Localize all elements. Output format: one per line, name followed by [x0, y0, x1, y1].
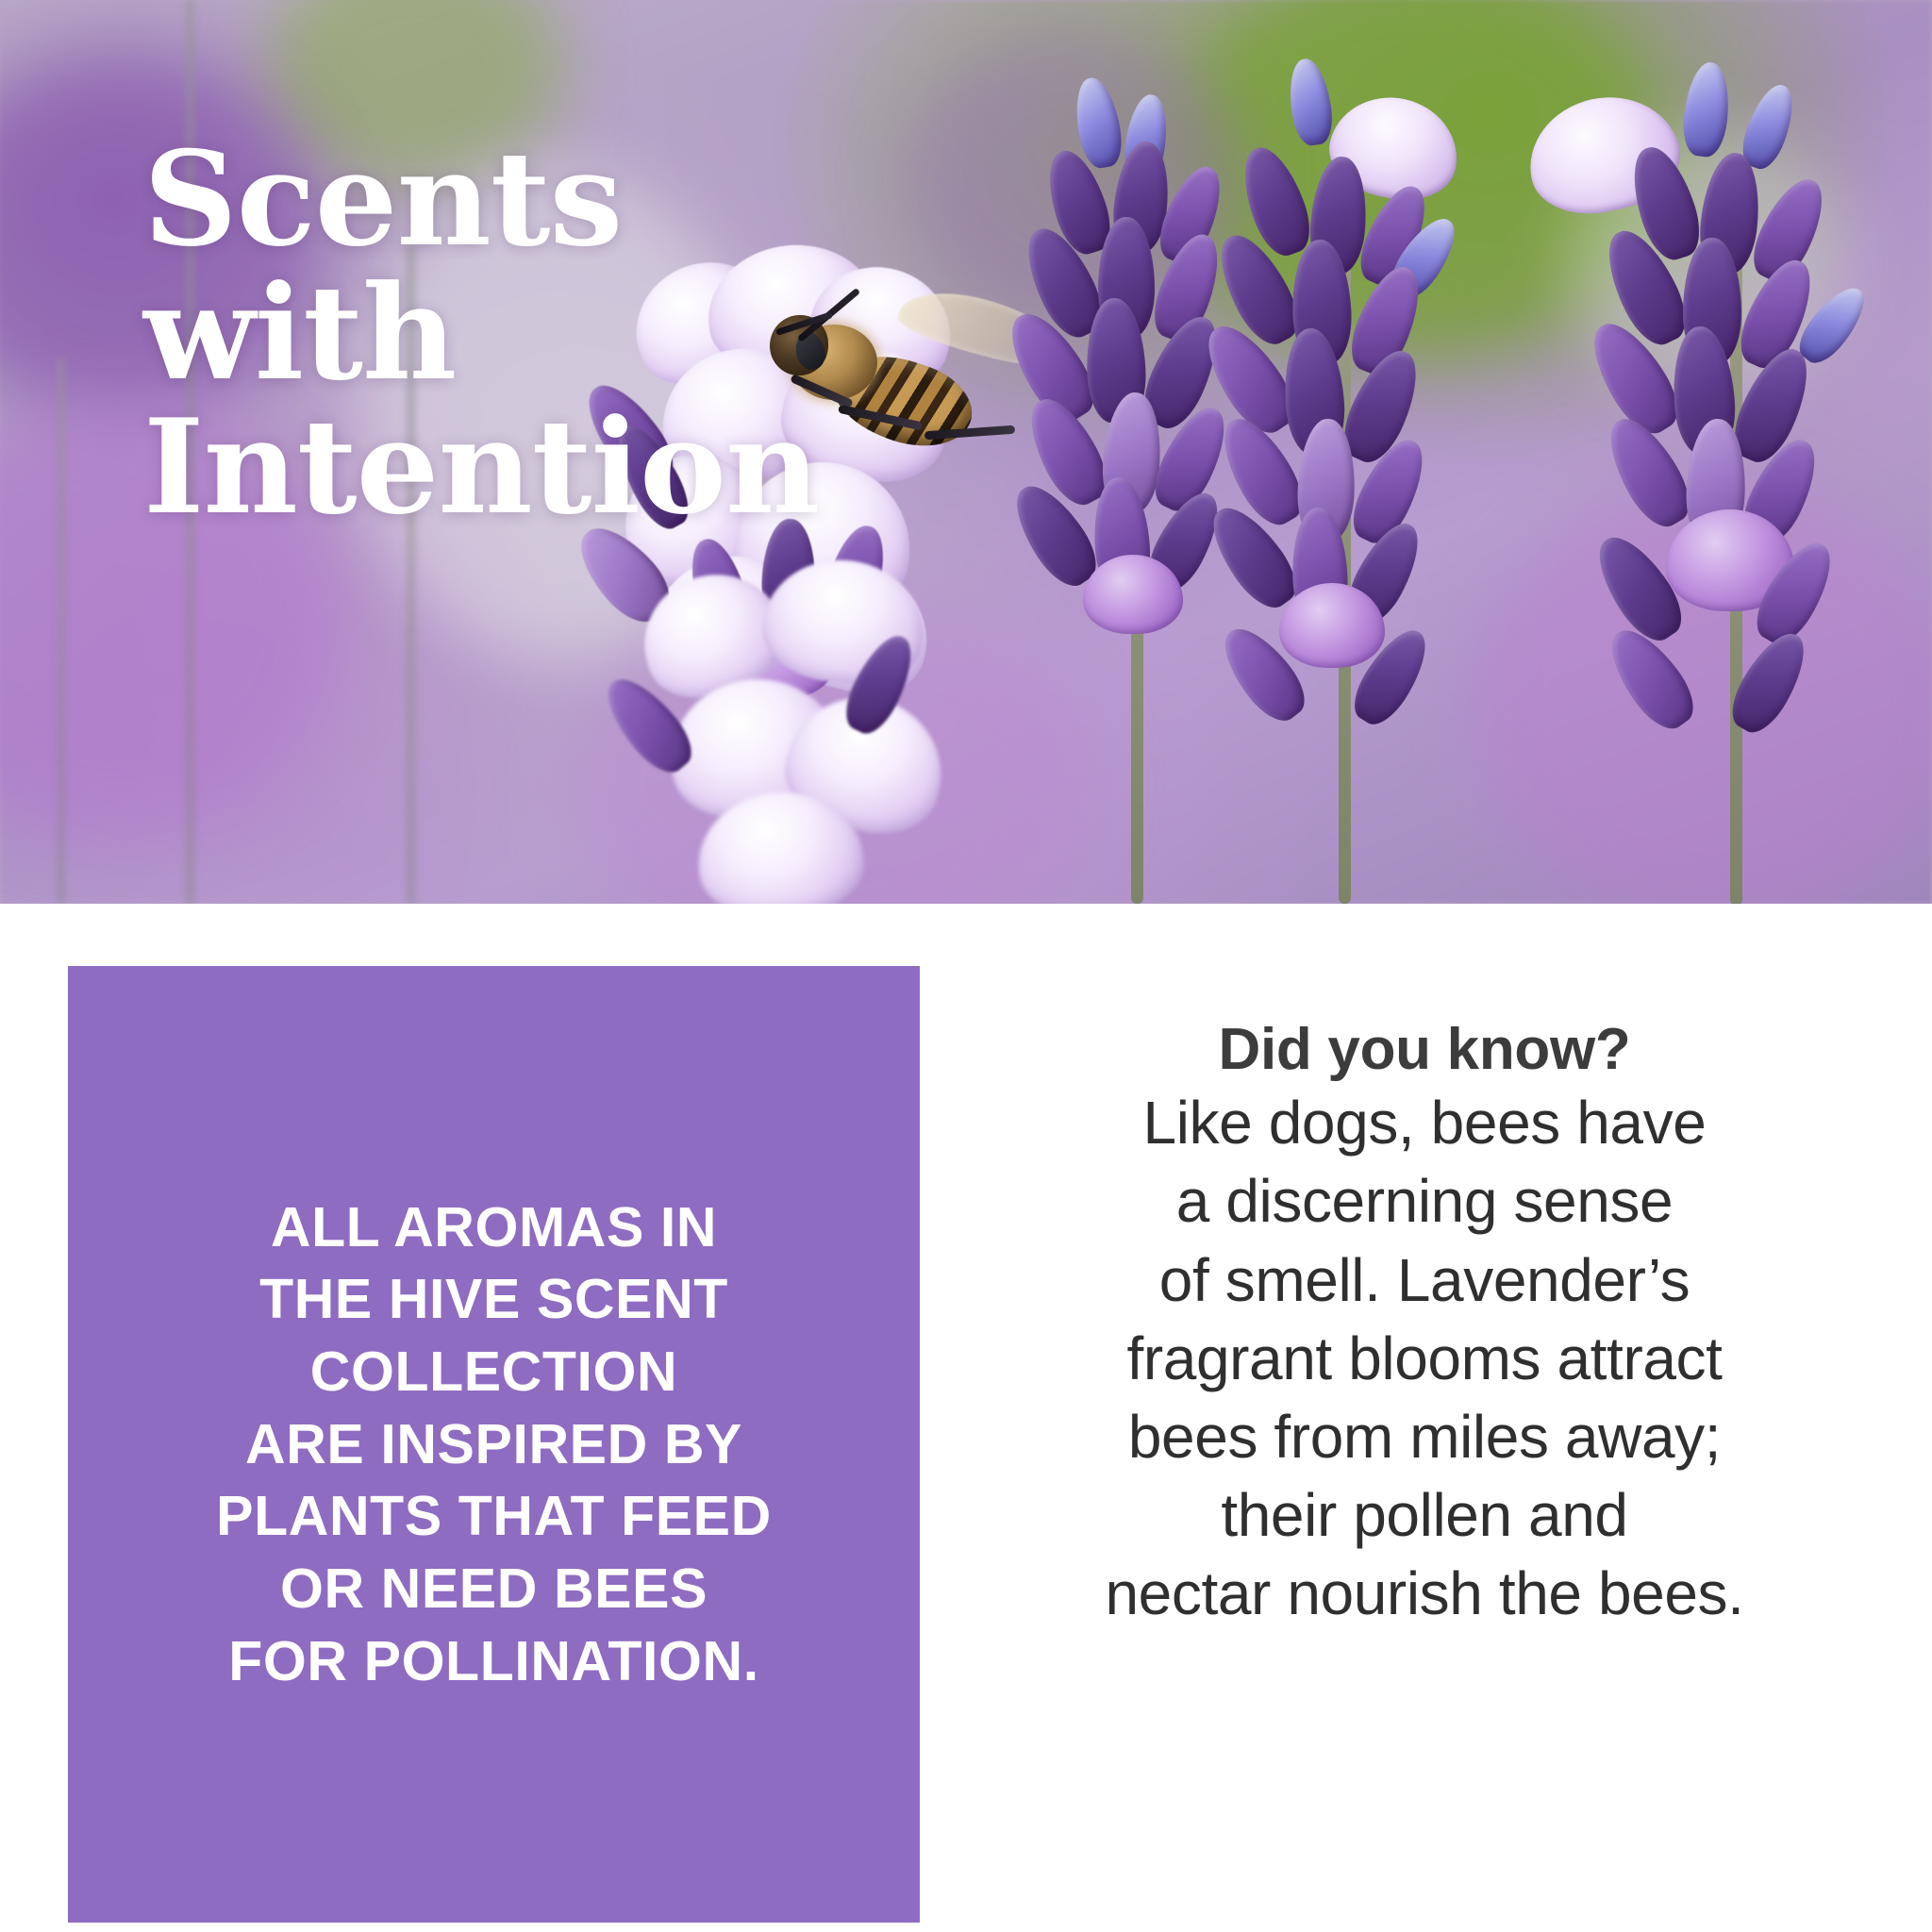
honeybee: [783, 262, 1057, 465]
hero-banner: Scents with Intention: [0, 0, 1932, 904]
did-you-know-body: Like dogs, bees have a discerning sense …: [953, 1084, 1896, 1633]
collection-callout-text: ALL AROMAS IN THE HIVE SCENT COLLECTION …: [184, 1191, 804, 1698]
did-you-know-heading: Did you know?: [953, 1015, 1896, 1084]
background-stem-3: [57, 358, 65, 904]
lavender-spike-right-inner: [1226, 55, 1462, 904]
lower-content-section: ALL AROMAS IN THE HIVE SCENT COLLECTION …: [0, 904, 1932, 1932]
collection-callout-card: ALL AROMAS IN THE HIVE SCENT COLLECTION …: [68, 966, 920, 1923]
did-you-know-block: Did you know? Like dogs, bees have a dis…: [953, 1015, 1896, 1633]
lavender-spike-right-edge: [1604, 66, 1868, 904]
lower-lavender-blossom-cluster: [623, 557, 962, 904]
poster-canvas: Scents with Intention ALL AROMAS IN THE …: [0, 0, 1932, 1932]
lavender-spike-center: [1028, 83, 1245, 904]
hero-title: Scents with Intention: [143, 132, 819, 534]
